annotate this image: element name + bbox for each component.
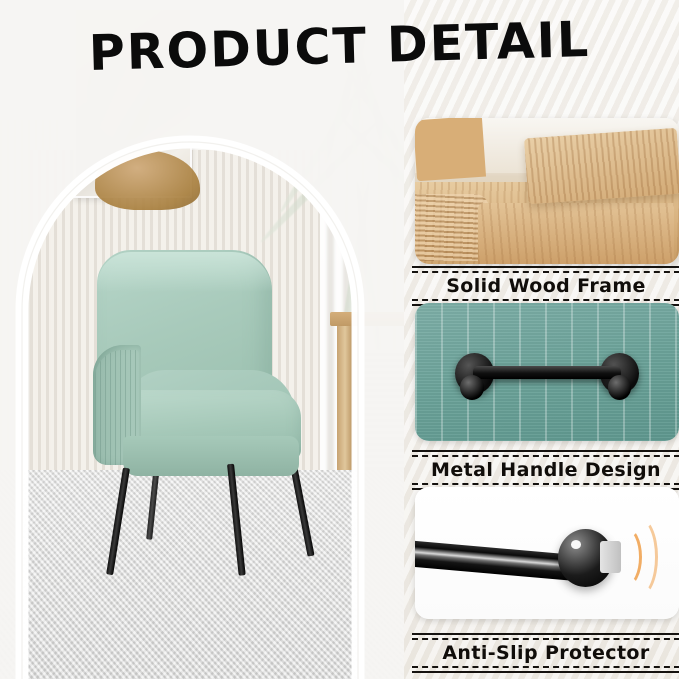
caption-rule-bottom-dashed [412,666,679,668]
lumber-grain-end-top [415,118,486,182]
accent-chair [75,250,315,580]
foot-photo [415,487,679,619]
chair-leg-front-left [106,467,130,575]
caption-solid-wood-frame: Solid Wood Frame [412,266,679,306]
feature-photo-solid-wood-frame [415,118,679,264]
handle-knob-left [460,375,484,400]
feature-photo-metal-handle-design [415,303,679,441]
caption-rule-bottom-solid [412,671,679,673]
glow-arc-outer-icon [621,517,658,596]
handle-knob-right [608,375,632,400]
caption-anti-slip-protector: Anti-Slip Protector [412,633,679,673]
caption-rule-bottom-dashed [412,299,679,301]
chair-leg-front-right [227,464,246,576]
caption-rule-top-solid [412,633,679,635]
feature-column: Solid Wood Frame Metal Handle Design [404,0,679,679]
feature-label-solid-wood-frame: Solid Wood Frame [412,273,679,299]
metal-handle-bar [473,366,621,378]
chair-backrest-highlight [97,252,272,292]
caption-metal-handle-design: Metal Handle Design [412,450,679,490]
feature-photo-anti-slip-protector [415,487,679,619]
caption-rule-top-solid [412,450,679,452]
feature-label-metal-handle-design: Metal Handle Design [412,457,679,483]
handle-photo [415,303,679,441]
wood-photo [415,118,679,264]
hero-room-scene [0,0,418,679]
chair-seat-base [123,436,299,476]
product-detail-graphic: Solid Wood Frame Metal Handle Design [0,0,679,679]
lumber-board-top [524,127,679,203]
caption-rule-bottom-dashed [412,483,679,485]
caption-rule-top-solid [412,266,679,268]
lumber-board-front [478,203,673,264]
feature-label-anti-slip-protector: Anti-Slip Protector [412,640,679,666]
